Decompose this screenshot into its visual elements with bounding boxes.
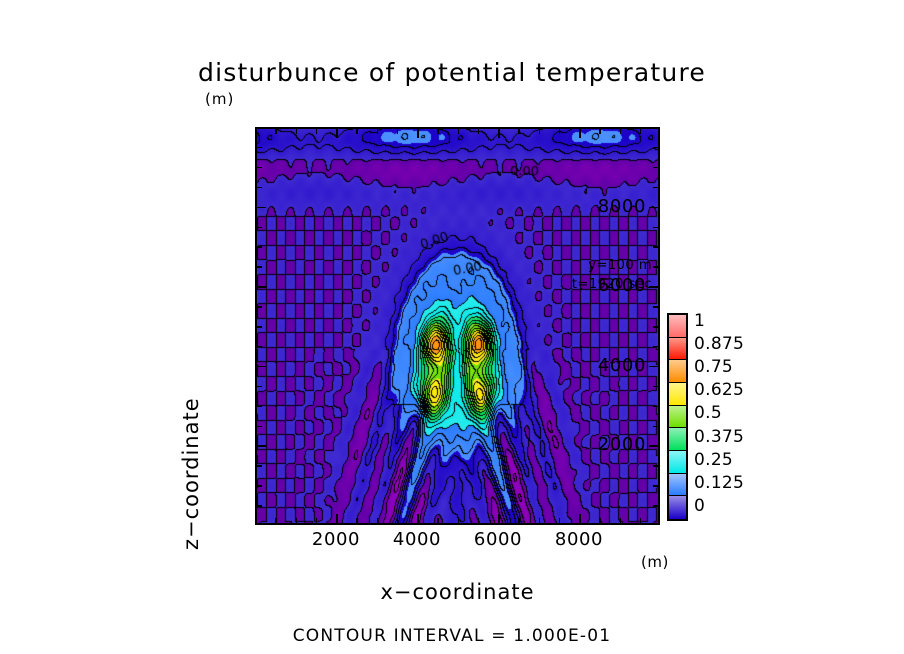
x-tick-label-2000: 2000: [291, 529, 381, 550]
colorbar-band-8: [669, 496, 686, 519]
contour-plot-area[interactable]: y=100 m t=1920 sec: [255, 127, 660, 525]
y-tick-minor: [257, 167, 262, 169]
colorbar-label-2: 0.75: [694, 357, 733, 377]
colorbar-band-6: [669, 451, 686, 474]
contour-field-canvas: [257, 129, 658, 523]
colorbar-label-8: 0: [694, 496, 705, 516]
y-tick-right: [649, 286, 658, 288]
y-tick-right: [653, 346, 658, 348]
y-tick-label-2000: 2000: [598, 434, 646, 455]
y-tick-major: [257, 366, 266, 368]
x-tick-minor: [599, 518, 601, 523]
x-tick-minor: [559, 518, 561, 523]
y-tick-minor: [257, 505, 262, 507]
y-tick-minor: [257, 147, 262, 149]
x-tick-minor: [640, 518, 642, 523]
y-tick-right: [653, 147, 658, 149]
y-axis-label-host: z−coordinate: [185, 180, 215, 510]
x-tick-top: [640, 129, 642, 134]
x-tick-label-4000: 4000: [372, 529, 462, 550]
y-tick-right: [653, 465, 658, 467]
x-tick-top: [518, 129, 520, 134]
x-tick-minor: [356, 518, 358, 523]
x-tick-minor: [377, 518, 379, 523]
x-tick-top: [458, 129, 460, 134]
y-tick-right: [653, 306, 658, 308]
x-tick-label-8000: 8000: [534, 529, 624, 550]
colorbar-label-7: 0.125: [694, 473, 744, 493]
y-tick-right: [653, 266, 658, 268]
x-tick-top: [296, 129, 298, 134]
y-tick-minor: [257, 465, 262, 467]
y-tick-minor: [257, 346, 262, 348]
colorbar-label-4: 0.5: [694, 403, 722, 423]
page-title: disturbunce of potential temperature: [0, 58, 904, 87]
x-tick-minor: [539, 518, 541, 523]
x-tick-major: [336, 514, 338, 523]
x-tick-minor: [296, 518, 298, 523]
x-tick-major: [579, 514, 581, 523]
colorbar-band-4: [669, 406, 686, 429]
x-tick-top: [377, 129, 379, 134]
y-tick-minor: [257, 246, 262, 248]
y-tick-right: [653, 485, 658, 487]
x-tick-top: [559, 129, 561, 134]
colorbar-label-0: 1: [694, 311, 705, 331]
x-tick-label-6000: 6000: [453, 529, 543, 550]
contour-interval-caption: CONTOUR INTERVAL = 1.000E-01: [0, 626, 904, 646]
x-tick-minor: [316, 518, 318, 523]
y-axis-label: z−coordinate: [179, 397, 203, 550]
x-tick-top: [539, 129, 541, 134]
y-tick-major: [257, 445, 266, 447]
colorbar-label-1: 0.875: [694, 334, 744, 354]
y-tick-right: [649, 366, 658, 368]
x-tick-top: [498, 129, 500, 138]
title-unit-label: (m): [205, 90, 234, 108]
y-tick-right: [649, 207, 658, 209]
colorbar-band-5: [669, 428, 686, 451]
x-tick-minor: [397, 518, 399, 523]
colorbar[interactable]: [667, 313, 688, 521]
x-tick-top: [397, 129, 399, 134]
y-tick-right: [653, 326, 658, 328]
colorbar-band-1: [669, 338, 686, 361]
x-tick-top: [275, 129, 277, 134]
y-tick-minor: [257, 406, 262, 408]
annotation-slice: y=100 m: [588, 258, 652, 273]
colorbar-label-6: 0.25: [694, 450, 733, 470]
x-tick-top: [437, 129, 439, 134]
y-tick-label-8000: 8000: [598, 196, 646, 217]
x-tick-top: [579, 129, 581, 138]
y-tick-minor: [257, 386, 262, 388]
x-axis-label: x−coordinate: [255, 580, 660, 604]
colorbar-band-0: [669, 315, 686, 338]
y-tick-minor: [257, 187, 262, 189]
x-tick-minor: [458, 518, 460, 523]
x-tick-top: [316, 129, 318, 134]
y-tick-major: [257, 207, 266, 209]
y-tick-label-4000: 4000: [598, 355, 646, 376]
y-tick-minor: [257, 227, 262, 229]
x-tick-minor: [275, 518, 277, 523]
x-tick-top: [599, 129, 601, 134]
x-tick-top: [620, 129, 622, 134]
y-tick-right: [653, 167, 658, 169]
x-tick-top: [417, 129, 419, 138]
colorbar-band-2: [669, 360, 686, 383]
y-tick-label-6000: 6000: [598, 275, 646, 296]
x-tick-minor: [437, 518, 439, 523]
colorbar-label-5: 0.375: [694, 427, 744, 447]
x-tick-top: [336, 129, 338, 138]
y-tick-right: [653, 246, 658, 248]
y-tick-right: [653, 187, 658, 189]
x-tick-major: [417, 514, 419, 523]
y-tick-minor: [257, 485, 262, 487]
y-tick-minor: [257, 266, 262, 268]
x-axis-unit-label: (m): [641, 553, 669, 571]
y-tick-right: [653, 386, 658, 388]
y-tick-right: [653, 227, 658, 229]
x-tick-top: [478, 129, 480, 134]
y-tick-minor: [257, 426, 262, 428]
x-tick-top: [356, 129, 358, 134]
y-tick-right: [653, 406, 658, 408]
y-tick-right: [653, 505, 658, 507]
colorbar-label-3: 0.625: [694, 380, 744, 400]
y-tick-minor: [257, 306, 262, 308]
colorbar-band-7: [669, 474, 686, 497]
x-tick-major: [498, 514, 500, 523]
y-tick-right: [653, 426, 658, 428]
x-tick-minor: [478, 518, 480, 523]
x-tick-minor: [620, 518, 622, 523]
y-tick-minor: [257, 326, 262, 328]
y-tick-major: [257, 286, 266, 288]
y-tick-right: [649, 445, 658, 447]
colorbar-band-3: [669, 383, 686, 406]
x-tick-minor: [518, 518, 520, 523]
